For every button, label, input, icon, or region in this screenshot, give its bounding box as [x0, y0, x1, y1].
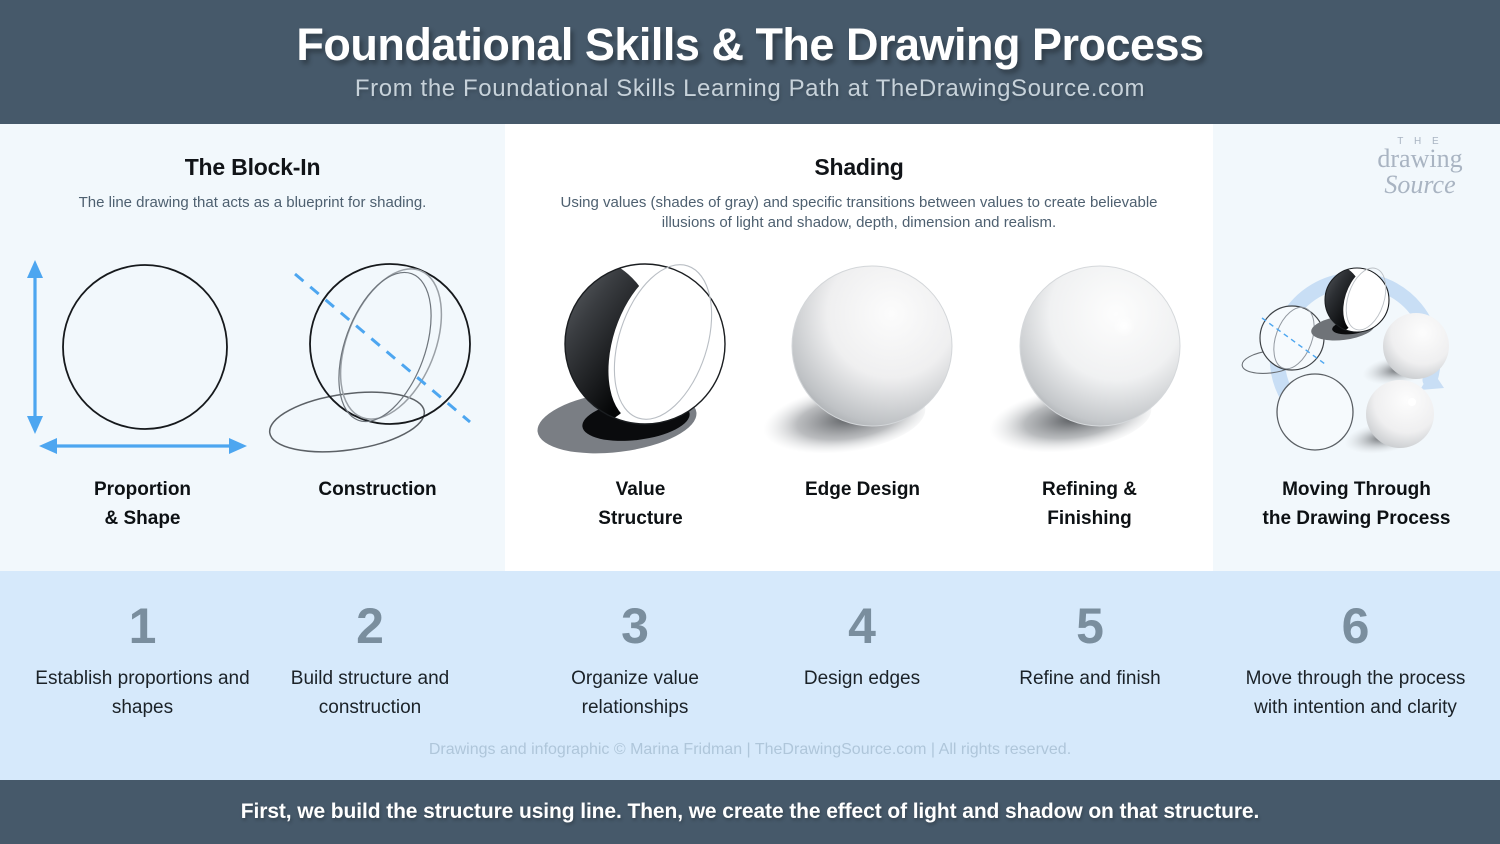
- step-number: 2: [255, 601, 485, 651]
- step-text: Organize value relationships: [525, 665, 745, 722]
- mini-refined-sphere: [1342, 380, 1434, 458]
- illustration-proportion-shape: [25, 252, 260, 467]
- step-item-1: 1 Establish proportions and shapes: [20, 571, 265, 722]
- step-item-2: 2 Build structure and construction: [255, 571, 485, 722]
- caption-construction: Construction: [265, 476, 490, 505]
- step-item-5: 5 Refine and finish: [980, 571, 1200, 694]
- header-bar: Foundational Skills & The Drawing Proces…: [0, 0, 1500, 124]
- step-number: 5: [980, 601, 1200, 651]
- step-text: Design edges: [752, 665, 972, 694]
- caption-line-1: Value: [533, 476, 748, 505]
- step-text: Build structure and construction: [255, 665, 485, 722]
- step-number: 4: [752, 601, 972, 651]
- sphere-outline: [310, 264, 470, 424]
- vertical-measure-arrow: [27, 260, 43, 434]
- logo-drawing-text: drawing: [1360, 147, 1480, 172]
- mini-proportion-circle: [1277, 374, 1353, 450]
- caption-line-2: Structure: [533, 505, 748, 534]
- specular-highlight: [1113, 315, 1135, 337]
- page-subtitle: From the Foundational Skills Learning Pa…: [355, 75, 1145, 103]
- panel-block-in-title: The Block-In: [0, 124, 505, 181]
- caption-moving-through-process: Moving Through the Drawing Process: [1213, 476, 1500, 533]
- circle-outline: [63, 265, 227, 429]
- panel-block-in-description: The line drawing that acts as a blueprin…: [18, 193, 488, 213]
- page-title: Foundational Skills & The Drawing Proces…: [296, 21, 1203, 68]
- caption-line-2: & Shape: [25, 505, 260, 534]
- illustration-edge-design: [760, 252, 975, 467]
- step-number: 1: [20, 601, 265, 651]
- infographic-root: Foundational Skills & The Drawing Proces…: [0, 0, 1500, 844]
- panel-shading-description: Using values (shades of gray) and specif…: [539, 193, 1179, 234]
- caption-line-1: Moving Through: [1213, 476, 1500, 505]
- light-axis-dashed-line: [295, 274, 470, 422]
- logo-the-text: T H E: [1360, 136, 1480, 147]
- footer-bar: First, we build the structure using line…: [0, 780, 1500, 844]
- step-number: 3: [525, 601, 745, 651]
- caption-line-1: Edge Design: [755, 476, 970, 505]
- caption-line-2: Finishing: [982, 505, 1197, 534]
- mini-construction: [1241, 302, 1325, 377]
- step-item-4: 4 Design edges: [752, 571, 972, 694]
- step-item-3: 3 Organize value relationships: [525, 571, 745, 722]
- main-content: The Block-In The line drawing that acts …: [0, 124, 1500, 571]
- sphere-body: [1020, 266, 1180, 426]
- illustration-construction: [265, 252, 490, 467]
- caption-value-structure: Value Structure: [533, 476, 748, 533]
- process-steps-band: 1 Establish proportions and shapes 2 Bui…: [0, 571, 1500, 780]
- sphere-body: [792, 266, 952, 426]
- caption-proportion-shape: Proportion & Shape: [25, 476, 260, 533]
- caption-refining-finishing: Refining & Finishing: [982, 476, 1197, 533]
- logo-source-text: Source: [1360, 172, 1480, 198]
- step-text: Establish proportions and shapes: [20, 665, 265, 722]
- panel-shading-title: Shading: [505, 124, 1213, 181]
- horizontal-measure-arrow: [39, 438, 247, 454]
- copyright-text: Drawings and infographic © Marina Fridma…: [0, 741, 1500, 759]
- step-text: Refine and finish: [980, 665, 1200, 694]
- caption-line-1: Construction: [265, 476, 490, 505]
- footer-summary-text: First, we build the structure using line…: [241, 800, 1259, 824]
- drawing-source-logo: T H E drawing Source: [1360, 136, 1480, 198]
- step-text: Move through the process with intention …: [1233, 665, 1478, 722]
- caption-line-1: Refining &: [982, 476, 1197, 505]
- construction-ellipse: [321, 260, 450, 434]
- illustration-value-structure: [533, 252, 748, 467]
- caption-line-1: Proportion: [25, 476, 260, 505]
- step-number: 6: [1233, 601, 1478, 651]
- illustration-refining-finishing: [988, 252, 1203, 467]
- step-item-6: 6 Move through the process with intentio…: [1233, 571, 1478, 722]
- caption-edge-design: Edge Design: [755, 476, 970, 505]
- illustration-moving-through-process: [1240, 252, 1472, 467]
- caption-line-2: the Drawing Process: [1213, 505, 1500, 534]
